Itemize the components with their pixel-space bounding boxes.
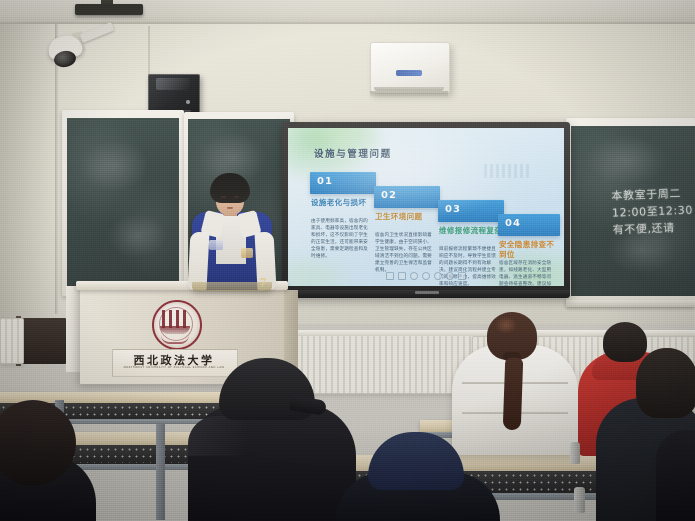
step-01-heading: 设施老化与损坏 [311, 198, 375, 208]
water-bottle-1 [570, 442, 580, 464]
air-conditioner-logo [396, 70, 422, 76]
step-04-heading: 安全隐患排查不到位 [499, 240, 557, 260]
step-02-number: 02 [381, 190, 397, 201]
radiator-center [296, 334, 474, 394]
eraser-icon[interactable] [422, 272, 430, 280]
speaker-glare [156, 78, 190, 90]
ponytail [503, 358, 524, 431]
chalk-note-line-2: 12:00至12:30 [612, 201, 695, 221]
presenter-jacket-patch-right [241, 248, 253, 258]
navy-cap [368, 432, 464, 490]
wall-shadow [0, 24, 60, 324]
step-03-number: 03 [445, 204, 461, 215]
undo-icon[interactable] [446, 272, 454, 280]
step-02-body: 宿舍内卫生状况直接影响着学生健康，由于空间狭小、卫生管理缺失，存在公共区域清洁不… [375, 232, 433, 274]
student-hair-red [603, 322, 647, 362]
chalk-tray [566, 300, 695, 307]
blackboard-left [67, 118, 179, 290]
university-emblem-wave [160, 326, 190, 334]
university-name-english: NORTHWEST UNIVERSITY OF POLITICAL SCIENC… [116, 366, 232, 369]
blackboard-chalk-note: 本教室于周二 12:00至12:30 有不便,还请 [611, 184, 695, 238]
air-conditioner-shadow [370, 91, 448, 98]
more-icon[interactable] [458, 272, 466, 280]
chalk-note-line-3: 有不便,还请 [612, 218, 695, 238]
student-hair-right [636, 348, 695, 418]
shape-icon[interactable] [434, 272, 442, 280]
step-03-heading: 维修报修流程复杂 [439, 226, 505, 236]
slide-toolbar[interactable] [386, 272, 466, 280]
air-conditioner-icon [370, 42, 450, 93]
layers-icon[interactable] [398, 272, 406, 280]
speaker-led [186, 100, 190, 104]
wall-corner [55, 24, 59, 314]
desk-leg-mid [156, 424, 165, 520]
door-panel [18, 318, 66, 364]
step-02-heading: 卫生环境问题 [375, 212, 439, 222]
step-03-body: 目前报修流程繁琐不便捷且响应不及时，导致学生反馈的问题长期得不到有效解决。建议简… [439, 246, 497, 286]
step-01-body: 由于使用频率高，宿舍内的家具、电器等设施出现老化和损坏，这不仅影响了学生的正常生… [311, 218, 369, 260]
light-bar-icon [75, 4, 143, 15]
audience-student-right-edge [656, 430, 695, 521]
classroom-photo: 本教室于周二 12:00至12:30 有不便,还请 设施与管理问题 01 设施老… [0, 0, 695, 521]
slide-watermark [484, 164, 530, 178]
whiteboard-brand-plate [415, 291, 439, 294]
student-hair-highlight [495, 316, 517, 334]
presenter-jacket-patch-left [209, 240, 223, 250]
step-01-number: 01 [317, 176, 333, 187]
jacket-shoulder [188, 416, 246, 456]
pen-icon[interactable] [410, 272, 418, 280]
presentation-slide[interactable]: 设施与管理问题 01 设施老化与损坏 由于使用频率高，宿舍内的家具、电器等设施出… [288, 128, 564, 286]
step-04-body: 宿舍区域存在消防安全隐患，如线路老化、大型用电器、逃生通道不畅等问题亟待排查整改… [499, 260, 555, 286]
radiator-left [0, 318, 24, 364]
water-bottle-2 [574, 487, 585, 513]
presenter-jacket-number: 7 [259, 276, 267, 289]
slide-title: 设施与管理问题 [314, 146, 392, 160]
step-04-number: 04 [505, 218, 521, 229]
grid-icon[interactable] [386, 272, 394, 280]
presenter-mouth [227, 207, 233, 209]
